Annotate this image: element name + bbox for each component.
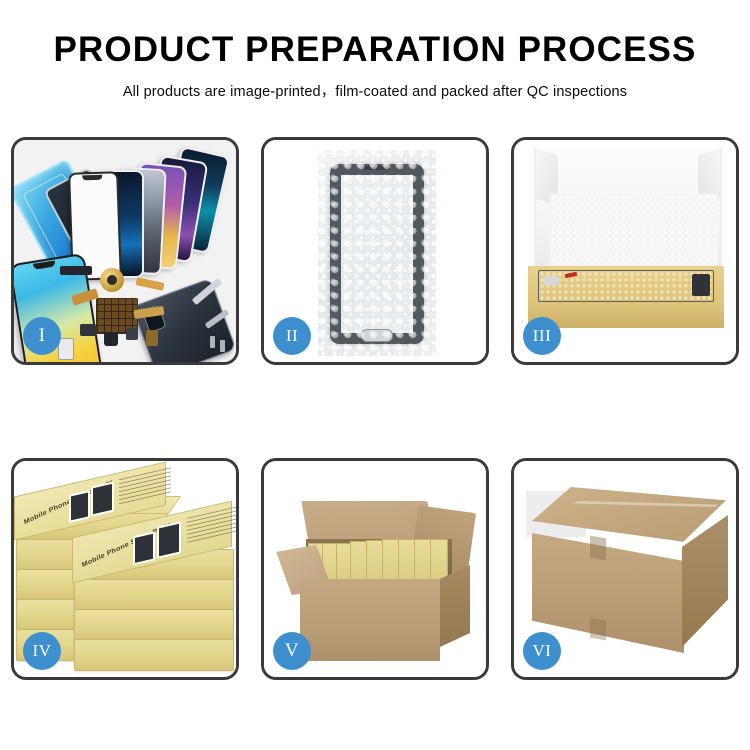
small-part-5 [58,338,74,360]
stacked-box-f3 [74,609,234,641]
small-part-2 [104,332,118,346]
process-step-3: III [511,137,739,365]
small-part-1 [80,324,96,336]
box-print-phone-1 [69,490,90,523]
process-step-2: II [261,137,489,365]
phone-screen-fan [86,154,236,274]
wrapped-screen-glass [330,164,424,344]
earpiece-mesh-part [60,266,92,275]
box-print-phone-2 [91,481,114,516]
process-step-5: V [261,458,489,680]
step-1-badge: I [23,317,61,355]
bubble-wrap-film [318,150,436,356]
small-part-3 [126,328,138,340]
screw-1 [210,336,215,348]
stacked-box-f4 [74,639,234,671]
open-shipping-carton [286,495,472,663]
box-print-phone-3 [133,531,155,565]
header: PRODUCT PREPARATION PROCESS All products… [0,0,750,101]
box-tray [528,266,724,328]
wrapped-screen-in-box [538,270,714,302]
box-print-phone-4 [157,521,181,559]
carton-side-face [440,565,470,647]
page-subtitle: All products are image-printed，film-coat… [0,80,750,101]
box-spec-lines-front [187,506,236,544]
red-label-mark [565,272,578,278]
step-2-badge: II [273,317,311,355]
carton-front-face [300,579,440,661]
step-4-badge: IV [23,632,61,670]
flex-cable-part-2 [135,277,164,291]
process-step-4: Mobile Phone Spare Parts Mobile Phone Sp… [11,458,239,680]
speaker-coil-part [100,268,124,292]
box-lid-inner [534,148,722,274]
small-part-4 [146,330,158,346]
product-preparation-infographic: PRODUCT PREPARATION PROCESS All products… [0,0,750,750]
step-3-badge: III [523,317,561,355]
sealed-shipping-carton [532,487,726,663]
carton-seam-top [590,536,606,561]
stacked-box-f2 [74,579,234,611]
step-5-badge: V [273,632,311,670]
page-title: PRODUCT PREPARATION PROCESS [0,32,750,67]
carton-seam-bottom [590,618,606,641]
process-step-6: VI [511,458,739,680]
box-spec-lines-back [119,467,171,505]
step-6-badge: VI [523,632,561,670]
screw-2 [220,340,225,352]
open-kraft-box [528,148,724,338]
carton-front-panel [532,529,684,653]
process-step-grid: I II [11,137,739,680]
process-step-1: I [11,137,239,365]
home-button [361,329,393,342]
